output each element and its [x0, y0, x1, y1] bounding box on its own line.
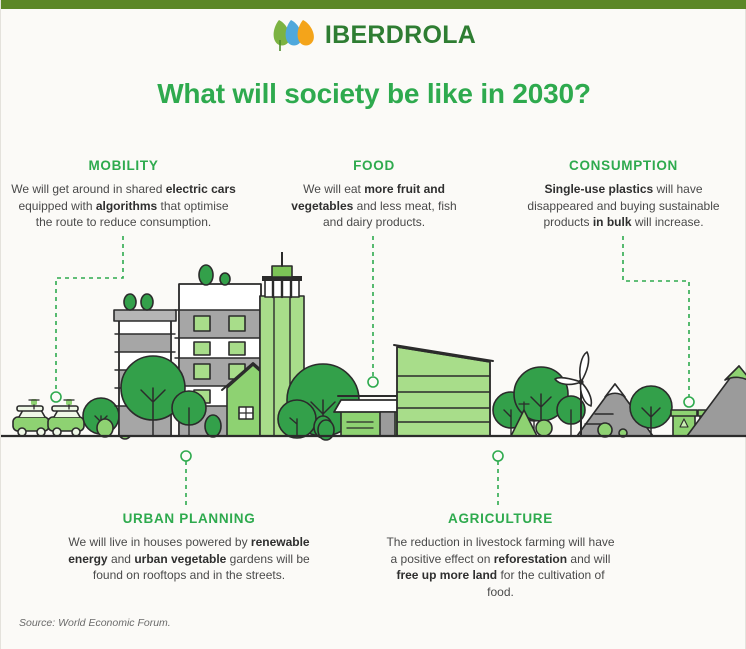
callout-mobility-body: We will get around in shared electric ca…	[11, 181, 236, 231]
callout-urban-planning: URBAN PLANNING We will live in houses po…	[61, 511, 317, 584]
mountain	[687, 366, 746, 436]
callout-agriculture-heading: AGRICULTURE	[386, 511, 615, 526]
rooftop-tree-icon	[199, 265, 213, 285]
iberdrola-leaves-logo-icon	[272, 18, 318, 52]
rooftop-tree-icon	[141, 294, 153, 310]
callout-mobility-heading: MOBILITY	[11, 158, 236, 173]
sustainable-city-illustration	[1, 252, 746, 450]
infographic-page: IBERDROLA What will society be like in 2…	[0, 0, 746, 649]
callout-mobility: MOBILITY We will get around in shared el…	[11, 158, 236, 231]
connector-agriculture-endpoint	[493, 451, 503, 461]
tree-icon	[278, 400, 316, 438]
connector-urban-endpoint	[181, 451, 191, 461]
electric-car-icon	[48, 399, 84, 436]
electric-car-icon	[13, 399, 55, 436]
callout-urban-planning-body: We will live in houses powered by renewa…	[61, 534, 317, 584]
callout-food-heading: FOOD	[288, 158, 460, 173]
rooftop-tree-icon	[220, 273, 230, 285]
callout-consumption: CONSUMPTION Single-use plastics will hav…	[516, 158, 731, 231]
callout-urban-planning-heading: URBAN PLANNING	[61, 511, 317, 526]
callout-food: FOOD We will eat more fruit and vegetabl…	[288, 158, 460, 231]
shrub-icon	[205, 415, 221, 437]
slanted-office-building	[394, 345, 493, 436]
callout-food-body: We will eat more fruit and vegetables an…	[288, 181, 460, 231]
top-color-band	[1, 0, 746, 9]
callout-consumption-body: Single-use plastics will have disappeare…	[516, 181, 731, 231]
source-note: Source: World Economic Forum.	[19, 617, 171, 629]
page-title: What will society be like in 2030?	[1, 78, 746, 110]
callout-agriculture-body: The reduction in livestock farming will …	[386, 534, 615, 600]
brand-logo: IBERDROLA	[1, 17, 746, 53]
brand-name: IBERDROLA	[325, 21, 476, 50]
shrub-icon	[536, 420, 552, 436]
callout-agriculture: AGRICULTURE The reduction in livestock f…	[386, 511, 615, 600]
callout-consumption-heading: CONSUMPTION	[516, 158, 731, 173]
rooftop-tree-icon	[124, 294, 136, 310]
shrub-icon	[97, 419, 113, 437]
